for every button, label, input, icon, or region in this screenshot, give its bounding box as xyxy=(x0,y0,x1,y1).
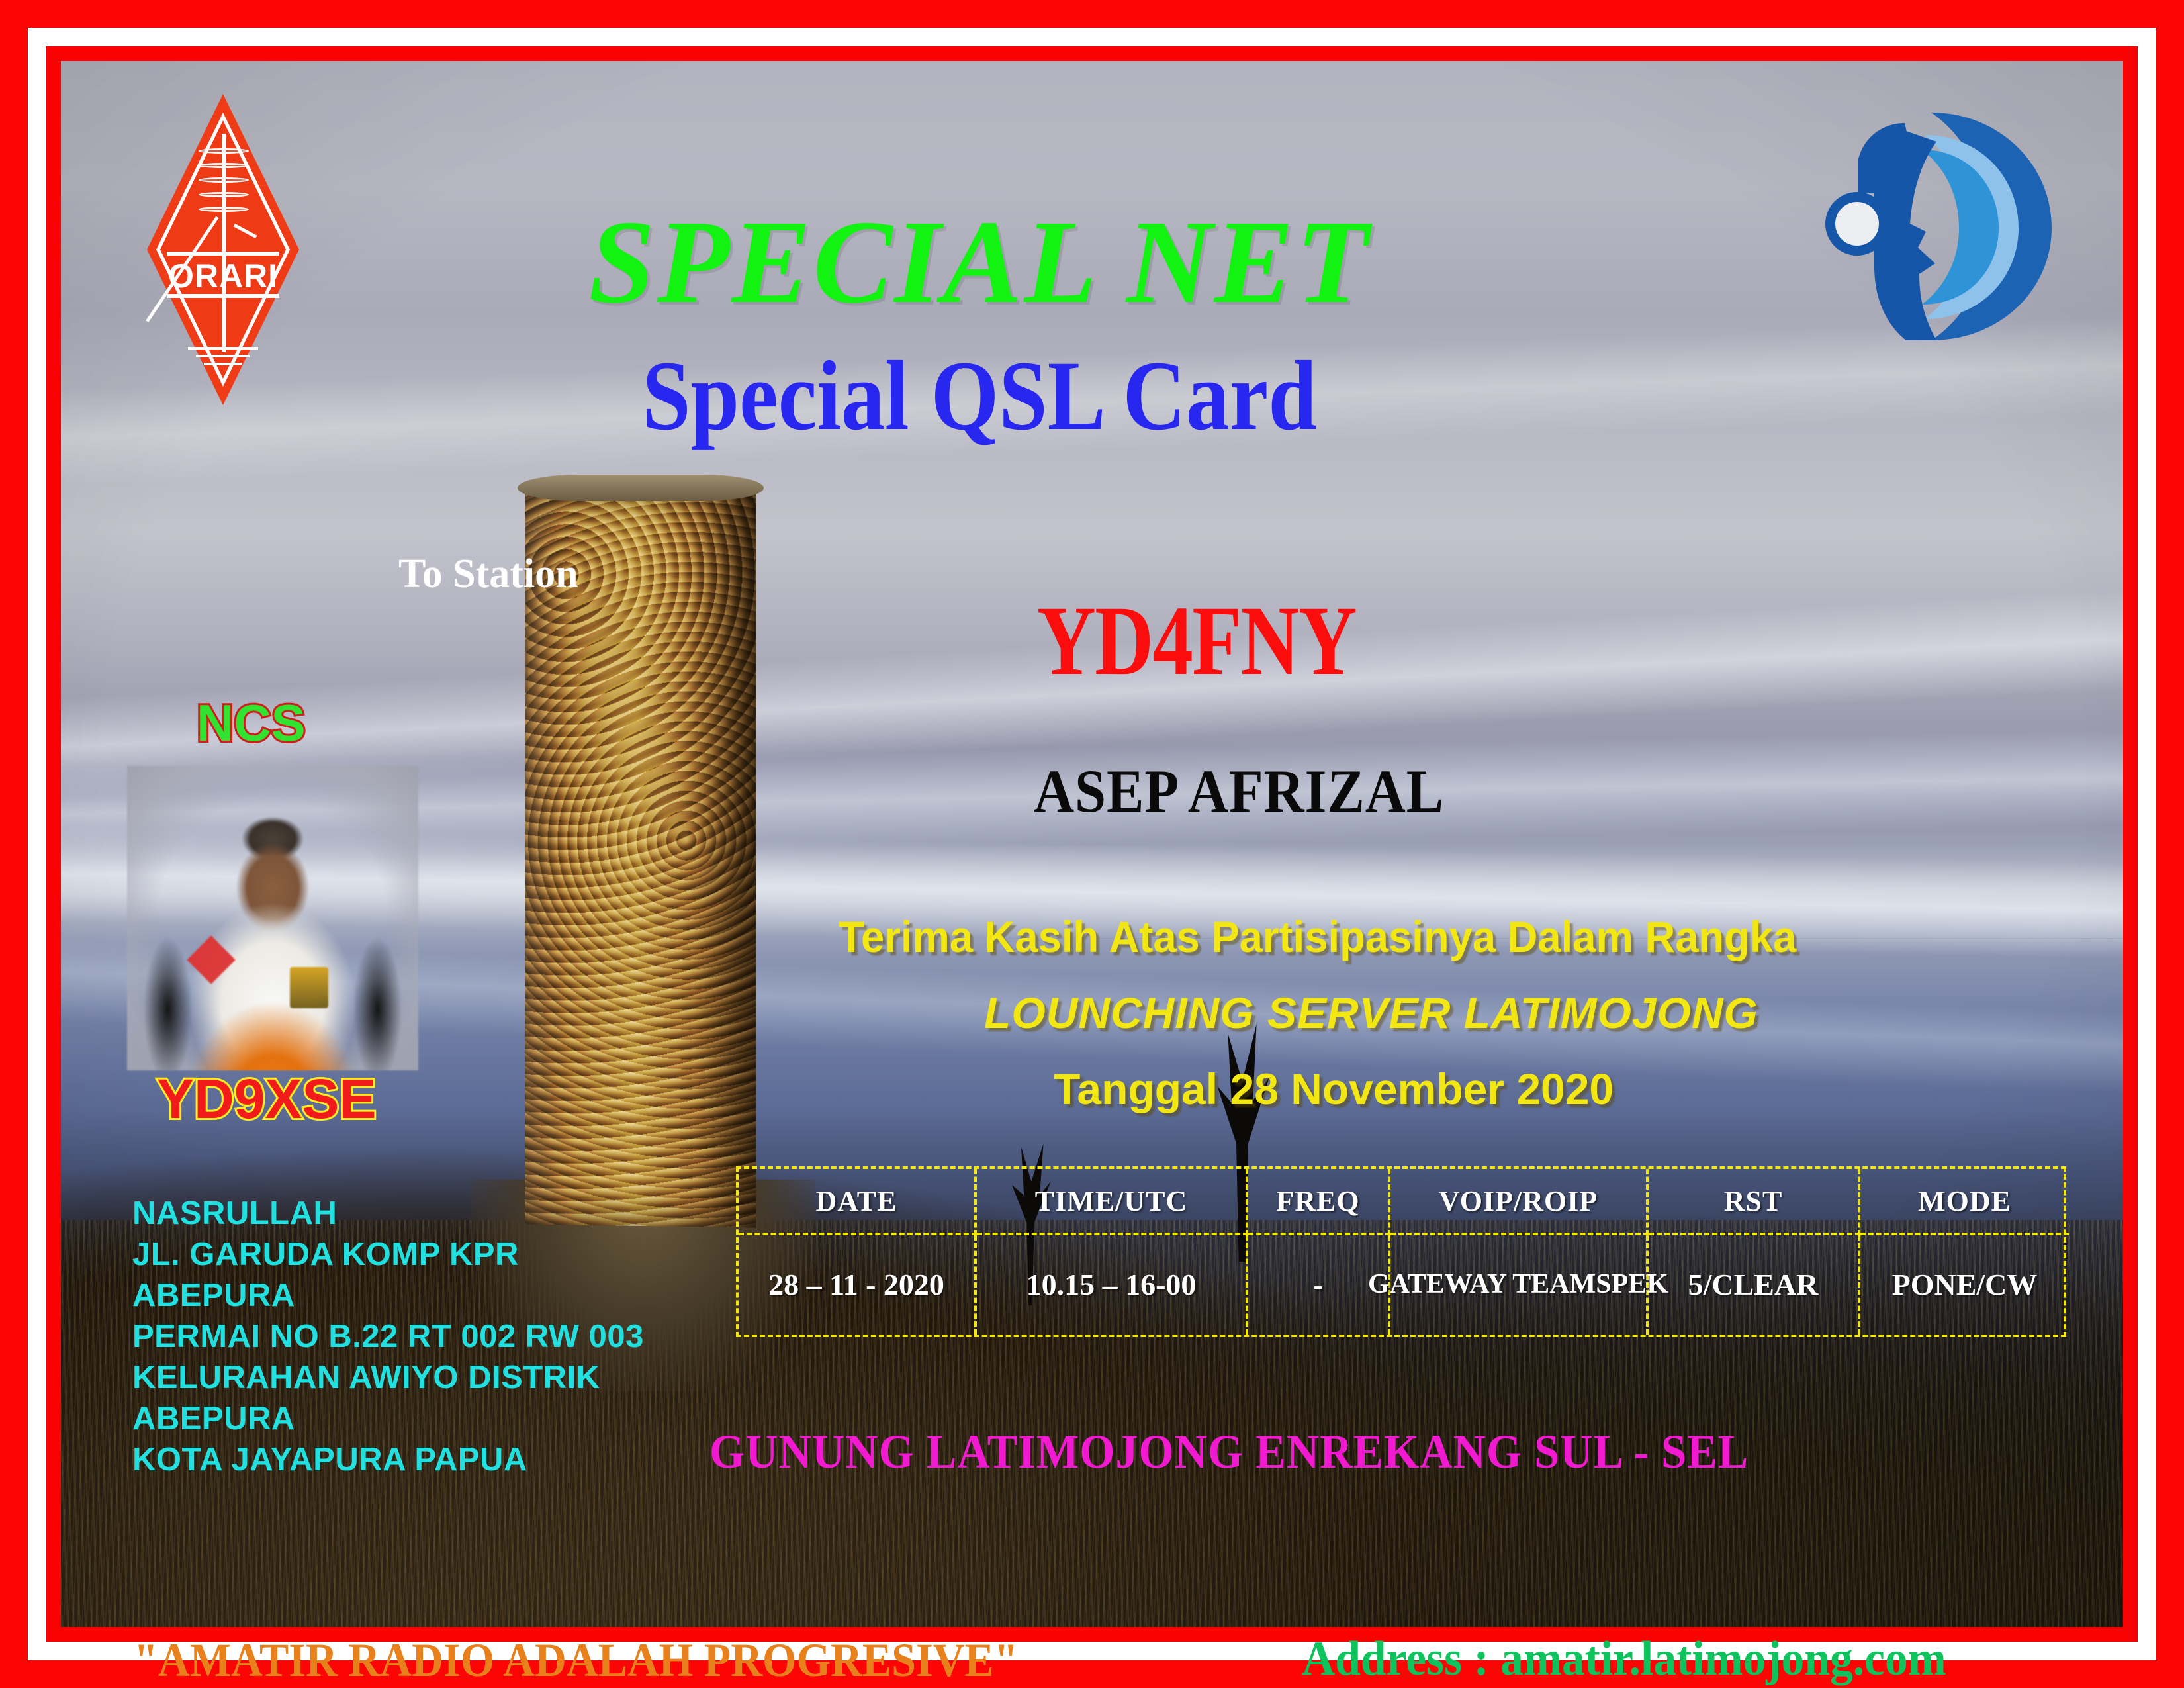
website-address: Address : amatir.latimojong.com xyxy=(1302,1631,1946,1687)
location-line: GUNUNG LATIMOJONG ENREKANG SUL - SEL xyxy=(709,1425,1749,1479)
qso-table-header-cell: MODE xyxy=(1860,1169,2069,1235)
qso-table-header-cell: VOIP/ROIP xyxy=(1390,1169,1649,1235)
uniform-patch-icon xyxy=(187,935,236,984)
recipient-operator-name: ASEP AFRIZAL xyxy=(1034,756,1444,826)
qso-table-header-cell: DATE xyxy=(739,1169,977,1235)
address-line: KOTA JAYAPURA PAPUA xyxy=(132,1439,644,1480)
ncs-label: NCS xyxy=(197,693,306,753)
address-line: JL. GARUDA KOMP KPR xyxy=(132,1234,644,1275)
page-title-special-net: SPECIAL NET xyxy=(0,193,2011,330)
card-content: ORARI SPECIAL NET Special QSL Card To St… xyxy=(61,61,2123,1627)
ncs-operator-photo xyxy=(127,766,418,1070)
address-line: NASRULLAH xyxy=(132,1193,644,1234)
motto-text: "AMATIR RADIO ADALAH PROGRESIVE" xyxy=(134,1633,1019,1688)
address-line: ABEPURA xyxy=(132,1275,644,1316)
page-subtitle-qsl-card: Special QSL Card xyxy=(72,339,1887,453)
qso-table-value-cell: 10.15 – 16-00 xyxy=(977,1235,1248,1335)
ncs-address-block: NASRULLAH JL. GARUDA KOMP KPR ABEPURA PE… xyxy=(132,1193,644,1480)
event-line: LOUNCHING SERVER LATIMOJONG xyxy=(984,988,1758,1038)
qsl-card: ORARI SPECIAL NET Special QSL Card To St… xyxy=(0,0,2184,1688)
ncs-callsign: YD9XSE xyxy=(157,1067,377,1131)
qso-table-value-cell: 28 – 11 - 2020 xyxy=(739,1235,977,1335)
qso-table-value-cell: 5/CLEAR xyxy=(1649,1235,1860,1335)
recipient-callsign: YD4FNY xyxy=(1037,584,1356,698)
qso-table-value-cell: PONE/CW xyxy=(1860,1235,2069,1335)
address-line: PERMAI NO B.22 RT 002 RW 003 xyxy=(132,1316,644,1357)
qso-table-header-cell: TIME/UTC xyxy=(977,1169,1248,1235)
qso-table-value-cell: GATEWAY TEAMSPEK xyxy=(1390,1235,1649,1335)
qso-table: DATE TIME/UTC FREQ VOIP/ROIP RST MODE 28… xyxy=(736,1166,2066,1337)
id-badge-icon xyxy=(290,967,328,1008)
event-date-line: Tanggal 28 November 2020 xyxy=(1054,1064,1614,1114)
qso-table-header-cell: FREQ xyxy=(1248,1169,1390,1235)
to-station-label: To Station xyxy=(398,551,578,598)
address-line: KELURAHAN AWIYO DISTRIK xyxy=(132,1357,644,1398)
qso-table-header-cell: RST xyxy=(1649,1169,1860,1235)
thanks-line: Terima Kasih Atas Partisipasinya Dalam R… xyxy=(839,912,1796,962)
address-line: ABEPURA xyxy=(132,1398,644,1439)
